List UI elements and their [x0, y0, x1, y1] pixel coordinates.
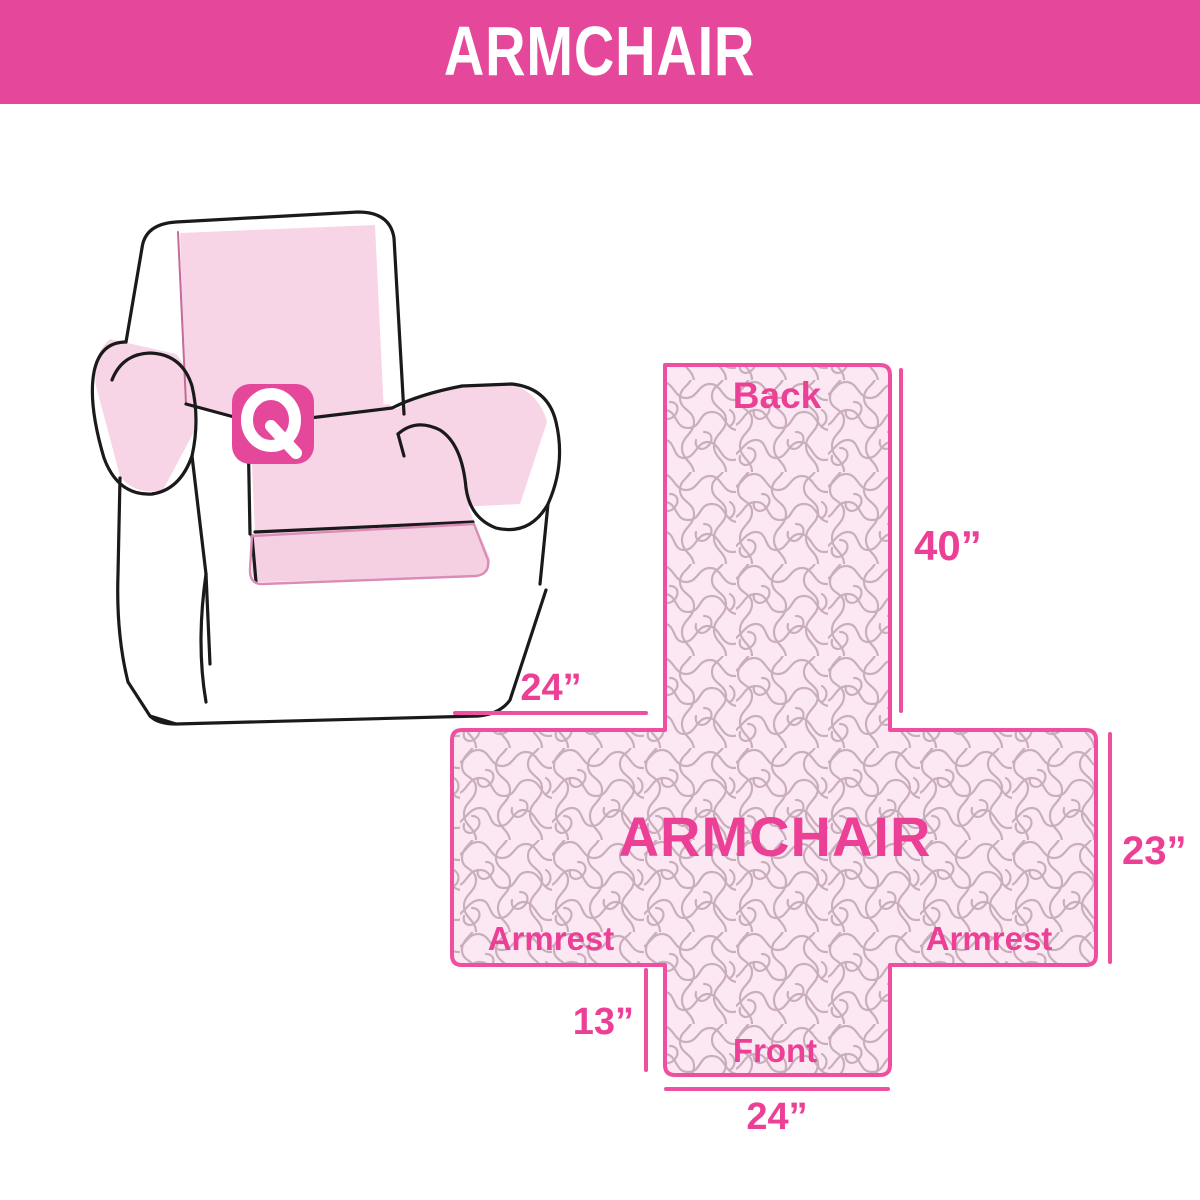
- panel-label-front: Front: [733, 1032, 817, 1069]
- page-title: ARMCHAIR: [444, 16, 755, 86]
- dimension-label-back-height: 40”: [914, 522, 982, 569]
- center-label-armchair: ARMCHAIR: [619, 805, 932, 868]
- diagram-svg: Back ARMCHAIR Armrest Armrest Front 40” …: [0, 104, 1200, 1200]
- dimension-label-armrest-width: 24”: [520, 667, 581, 709]
- dimension-label-front-drop: 13”: [573, 1001, 634, 1043]
- panel-label-armrest-right: Armrest: [926, 920, 1053, 957]
- slipcover-flat-pattern: Back ARMCHAIR Armrest Armrest Front: [440, 354, 1120, 1094]
- dimension-label-front-width: 24”: [746, 1096, 807, 1138]
- header-banner: ARMCHAIR: [0, 0, 1200, 104]
- dimension-label-seat-depth: 23”: [1122, 829, 1187, 873]
- product-dimension-infographic: ARMCHAIR: [0, 0, 1200, 1200]
- diagram-stage: Back ARMCHAIR Armrest Armrest Front 40” …: [0, 104, 1200, 1200]
- armchair-illustration: [92, 212, 559, 724]
- panel-label-armrest-left: Armrest: [488, 920, 615, 957]
- panel-label-back: Back: [733, 375, 822, 416]
- brand-logo-badge: [232, 384, 314, 464]
